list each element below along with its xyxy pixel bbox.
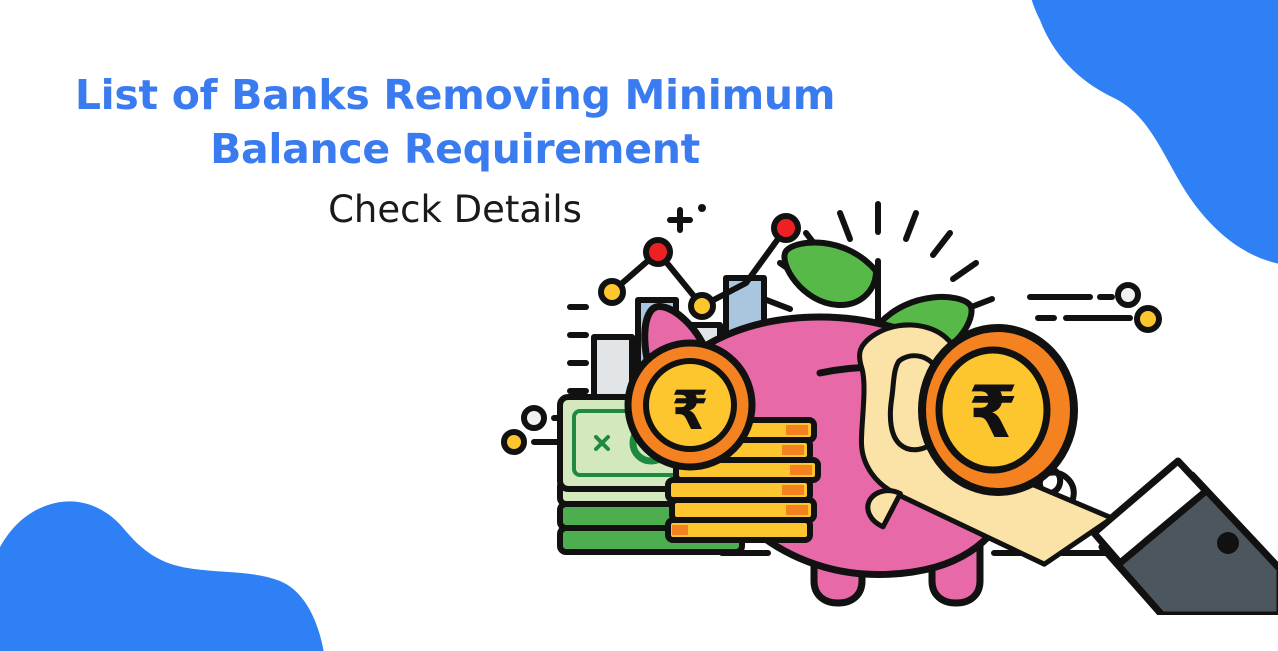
svg-text:₹: ₹: [671, 379, 709, 442]
svg-text:₹: ₹: [968, 370, 1018, 454]
rupee-coin-large-icon: ₹: [922, 328, 1074, 492]
page-title: List of Banks Removing Minimum Balance R…: [0, 68, 910, 176]
dash-dot-decoration-right: [1030, 285, 1159, 330]
promo-banner: List of Banks Removing Minimum Balance R…: [0, 0, 1278, 651]
plus-mark-chart: [670, 210, 690, 230]
page-title-line-1: List of Banks Removing Minimum: [75, 71, 835, 119]
rupee-coin-small-icon: ₹: [628, 343, 752, 467]
page-title-line-2: Balance Requirement: [210, 125, 700, 173]
bottom-left-blue-blob: [0, 473, 358, 651]
savings-illustration: ₹: [490, 175, 1278, 615]
